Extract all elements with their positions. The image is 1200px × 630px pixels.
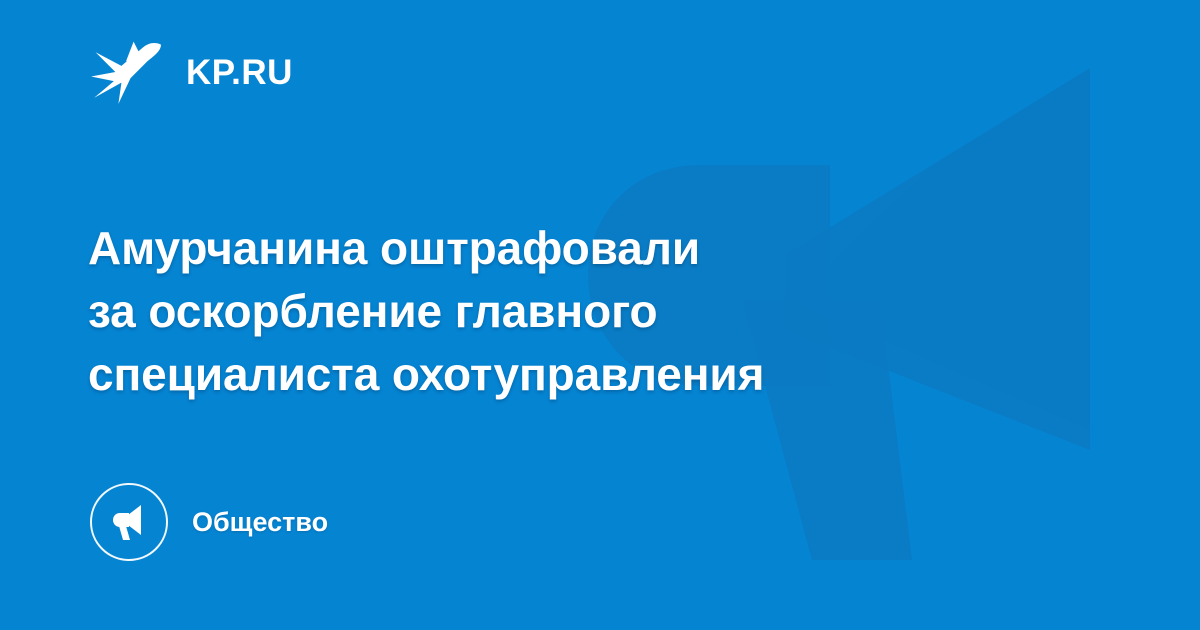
- category-label: Общество: [192, 509, 328, 536]
- brand-logo[interactable]: KP.RU: [88, 34, 293, 110]
- headline-line-3: специалиста охотуправления: [88, 343, 968, 406]
- share-card: KP.RU Амурчанина оштрафовали за оскорбле…: [0, 0, 1200, 630]
- megaphone-icon: [108, 501, 150, 543]
- swallow-bird-icon: [88, 34, 164, 110]
- category-icon-circle: [90, 483, 168, 561]
- brand-name: KP.RU: [186, 55, 293, 90]
- headline: Амурчанина оштрафовали за оскорбление гл…: [88, 217, 968, 406]
- category-badge[interactable]: Общество: [90, 482, 328, 562]
- headline-line-2: за оскорбление главного: [88, 280, 968, 343]
- headline-line-1: Амурчанина оштрафовали: [88, 217, 968, 280]
